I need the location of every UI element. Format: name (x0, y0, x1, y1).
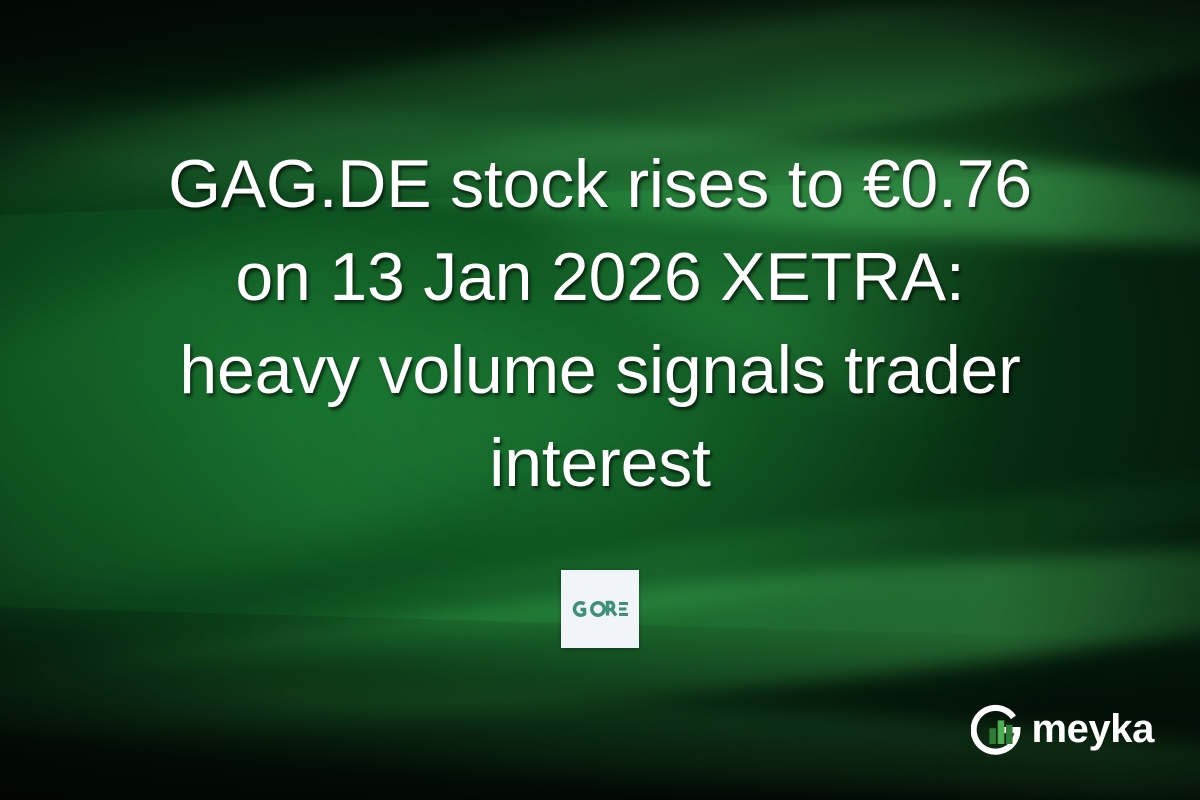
gore-e-bars-icon (619, 602, 628, 616)
bar-1 (990, 728, 997, 744)
bar-3 (1006, 725, 1013, 744)
social-news-card: GAG.DE stock rises to €0.76 on 13 Jan 20… (0, 0, 1200, 800)
gore-wordmark-icon (572, 599, 628, 619)
meyka-logo-icon (971, 702, 1027, 758)
company-logo-tile (561, 570, 639, 648)
meyka-brand-lockup[interactable]: meyka (971, 702, 1154, 758)
headline-text: GAG.DE stock rises to €0.76 on 13 Jan 20… (0, 138, 1200, 510)
bar-2 (998, 720, 1005, 744)
meyka-wordmark: meyka (1031, 709, 1154, 751)
